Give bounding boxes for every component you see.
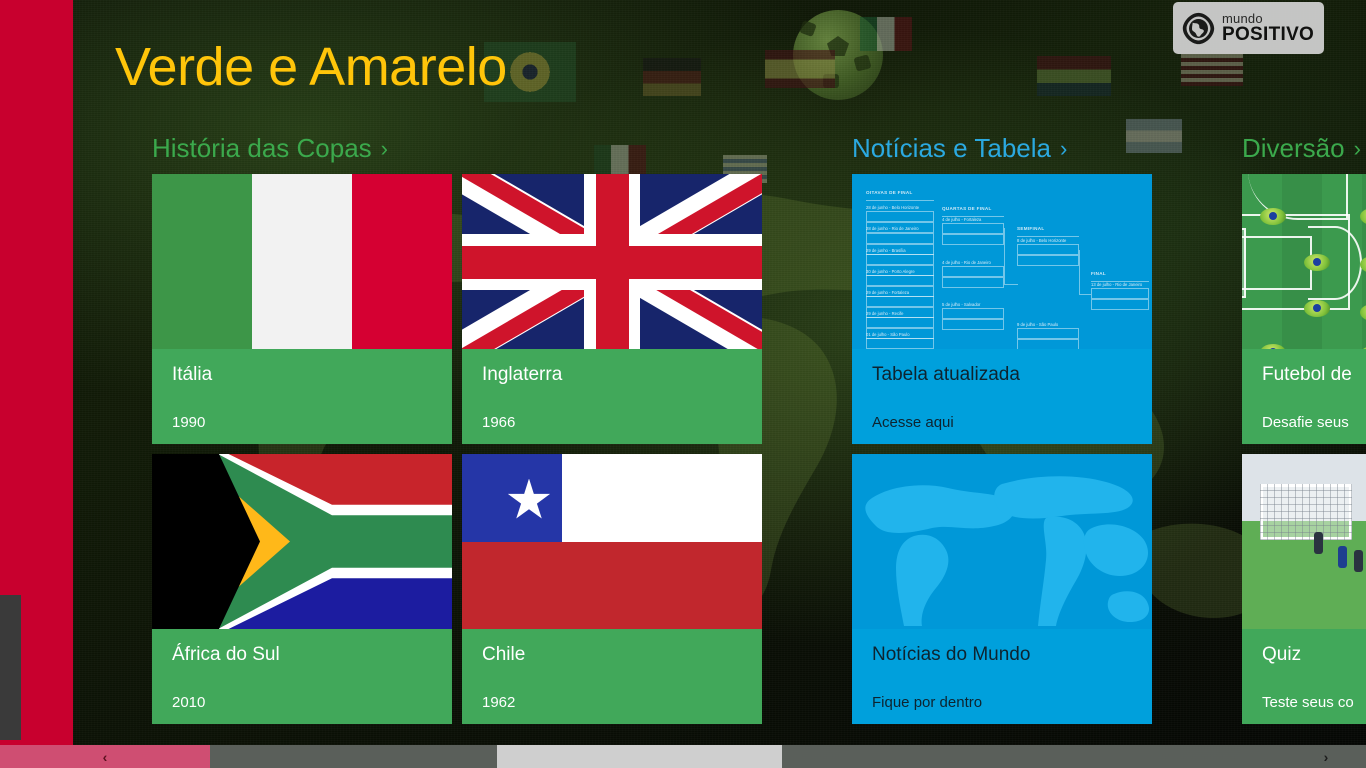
tile-art-flag-chile: [462, 454, 762, 629]
world-map-icon: [852, 454, 1152, 629]
tile-quiz[interactable]: Quiz Teste seus co: [1242, 454, 1366, 724]
bracket-sf-2: 9 de julho - São Paulo: [1017, 322, 1058, 327]
tile-subtitle: Fique por dentro: [872, 694, 1132, 711]
bracket-qf-2: 4 de julho - Rio de Janeiro: [942, 260, 991, 265]
chevron-right-icon: ›: [1354, 136, 1361, 162]
tile-caption: Chile 1962: [462, 629, 762, 724]
bracket-match-7: 01 de julho - São Paulo: [866, 332, 910, 337]
tile-subtitle: Desafie seus: [1262, 414, 1366, 431]
group-header-noticias-e-tabela[interactable]: Notícias e Tabela ›: [852, 133, 1152, 164]
bg-flag-usa-icon: [1181, 50, 1243, 86]
tile-subtitle: 2010: [172, 694, 432, 711]
tile-caption: Quiz Teste seus co: [1242, 629, 1366, 724]
tile-grid-historia: Itália 1990: [152, 174, 762, 724]
chevron-right-icon: ›: [1060, 136, 1067, 162]
tile-subtitle: Acesse aqui: [872, 414, 1132, 431]
bracket-heading-4: FINAL: [1091, 271, 1106, 276]
tile-art-bracket: OITAVAS DE FINAL QUARTAS DE FINAL SEMIFI…: [852, 174, 1152, 349]
tile-title: Inglaterra: [482, 365, 742, 386]
globe-icon: [1182, 12, 1215, 45]
brand-line2: POSITIVO: [1222, 25, 1314, 44]
group-noticias-e-tabela: Notícias e Tabela › OITAVAS DE FINAL QUA…: [852, 133, 1152, 738]
scroll-right-button[interactable]: ›: [1286, 745, 1366, 768]
tile-caption: África do Sul 2010: [152, 629, 452, 724]
tile-noticias-do-mundo[interactable]: Notícias do Mundo Fique por dentro: [852, 454, 1152, 724]
bracket-qf-1: 4 de julho - Fortaleza: [942, 217, 981, 222]
tile-futebol-de[interactable]: Futebol de Desafie seus: [1242, 174, 1366, 444]
bg-flag-spain-icon: [765, 50, 835, 88]
tile-art-stadium: [1242, 454, 1366, 629]
bracket-heading-3: SEMIFINAL: [1017, 226, 1044, 231]
tile-title: Chile: [482, 645, 742, 666]
left-edge-strip[interactable]: [0, 0, 73, 745]
tile-africa-do-sul[interactable]: África do Sul 2010: [152, 454, 452, 724]
tile-caption: Futebol de Desafie seus: [1242, 349, 1366, 444]
tile-chile[interactable]: Chile 1962: [462, 454, 762, 724]
group-header-historia-das-copas[interactable]: História das Copas ›: [152, 133, 762, 164]
bracket-heading-1: OITAVAS DE FINAL: [866, 190, 913, 195]
tile-subtitle: 1966: [482, 414, 742, 431]
left-edge-handle[interactable]: [0, 595, 21, 740]
tile-caption: Tabela atualizada Acesse aqui: [852, 349, 1152, 444]
tile-subtitle: 1962: [482, 694, 742, 711]
group-label: História das Copas: [152, 133, 372, 164]
app-root: mundo POSITIVO Verde e Amarelo História …: [0, 0, 1366, 768]
tile-title: Tabela atualizada: [872, 365, 1132, 386]
tile-caption: Itália 1990: [152, 349, 452, 444]
bracket-match-4: 30 de junho - Porto Alegre: [866, 269, 915, 274]
tile-tabela-atualizada[interactable]: OITAVAS DE FINAL QUARTAS DE FINAL SEMIFI…: [852, 174, 1152, 444]
scroll-left-button[interactable]: ‹: [0, 745, 210, 768]
tile-subtitle: Teste seus co: [1262, 694, 1366, 711]
tile-grid-diversao: Futebol de Desafie seus: [1242, 174, 1366, 724]
tile-caption: Notícias do Mundo Fique por dentro: [852, 629, 1152, 724]
tile-groups: História das Copas › Itália 1990: [152, 133, 1366, 738]
tile-title: Futebol de: [1262, 365, 1366, 386]
bracket-match-1: 28 de junho - Belo Horizonte: [866, 205, 919, 210]
group-diversao: Diversão ›: [1242, 133, 1366, 738]
horizontal-scrollbar[interactable]: ‹ ›: [0, 745, 1366, 768]
tile-art-flag-italy: [152, 174, 452, 349]
tile-art-world-map: [852, 454, 1152, 629]
tile-art-pitch: [1242, 174, 1366, 349]
brand-logo: mundo POSITIVO: [1173, 2, 1324, 54]
tile-title: Quiz: [1262, 645, 1366, 666]
bracket-match-3: 29 de junho - Brasília: [866, 248, 906, 253]
bg-flag-germany-icon: [643, 58, 701, 96]
scrollbar-track[interactable]: [210, 745, 1286, 768]
bg-flag-italy-icon: [860, 17, 912, 51]
tile-title: Itália: [172, 365, 432, 386]
tile-title: Notícias do Mundo: [872, 645, 1132, 666]
bracket-final-1: 13 de julho - Rio de Janeiro: [1091, 282, 1142, 287]
tile-caption: Inglaterra 1966: [462, 349, 762, 444]
tile-subtitle: 1990: [172, 414, 432, 431]
tile-inglaterra[interactable]: Inglaterra 1966: [462, 174, 762, 444]
group-label: Diversão: [1242, 133, 1345, 164]
tile-title: África do Sul: [172, 645, 432, 666]
tile-art-flag-uk: [462, 174, 762, 349]
tile-art-flag-south-africa: [152, 454, 452, 629]
scrollbar-thumb[interactable]: [497, 745, 782, 768]
bracket-match-2: 28 de junho - Rio de Janeiro: [866, 226, 919, 231]
bracket-sf-1: 8 de julho - Belo Horizonte: [1017, 238, 1066, 243]
chevron-right-icon: ›: [381, 136, 388, 162]
page-title: Verde e Amarelo: [115, 36, 507, 98]
bg-flag-netherlands-icon: [1037, 56, 1111, 96]
bracket-match-6: 29 de junho - Recife: [866, 311, 903, 316]
bracket-heading-2: QUARTAS DE FINAL: [942, 206, 992, 211]
group-historia-das-copas: História das Copas › Itália 1990: [152, 133, 762, 738]
tile-grid-noticias: OITAVAS DE FINAL QUARTAS DE FINAL SEMIFI…: [852, 174, 1152, 724]
group-label: Notícias e Tabela: [852, 133, 1051, 164]
bracket-qf-3: 5 de julho - Salvador: [942, 302, 980, 307]
group-header-diversao[interactable]: Diversão ›: [1242, 133, 1366, 164]
bracket-match-5: 29 de junho - Fortaleza: [866, 290, 909, 295]
tile-italia[interactable]: Itália 1990: [152, 174, 452, 444]
